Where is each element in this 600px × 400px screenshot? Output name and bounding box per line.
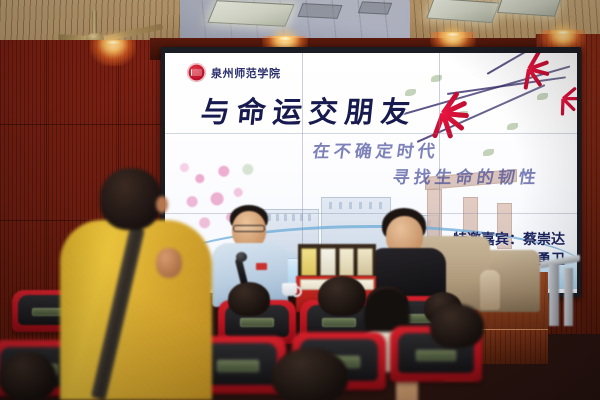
ceiling-air-vent xyxy=(358,1,392,14)
photo-scene: 泉州师范学院 与命运交朋友 在不确定时代 寻找生命的韧性 特邀嘉宾：蔡崇达 主持… xyxy=(0,0,600,400)
university-seal-icon xyxy=(187,63,206,82)
audience-head xyxy=(430,304,484,348)
water-cup xyxy=(282,283,297,296)
standing-person-hand xyxy=(156,248,182,278)
presentation-title: 与命运交朋友 xyxy=(199,89,419,131)
ceiling-light-panel xyxy=(207,0,294,27)
lectern xyxy=(540,258,580,336)
person-in-gold-jacket xyxy=(60,168,212,400)
host-eyeglasses xyxy=(233,225,265,232)
standing-person-ear xyxy=(156,196,168,213)
book-cover xyxy=(301,248,317,276)
ceiling-air-vent xyxy=(297,3,342,19)
book-cover xyxy=(339,248,355,276)
presentation-subtitle-line2: 寻找生命的韧性 xyxy=(391,163,542,188)
audience-head xyxy=(228,282,270,316)
book-cover xyxy=(320,248,336,276)
standing-person-head xyxy=(100,168,162,230)
presentation-subtitle-line1: 在不确定时代 xyxy=(311,137,441,162)
host-shirt-logo xyxy=(256,263,267,270)
audience-head xyxy=(272,348,348,400)
organization-name: 泉州师范学院 xyxy=(211,65,281,81)
book-display-stand xyxy=(298,244,376,278)
organization-logo: 泉州师范学院 xyxy=(187,63,281,82)
microphone-head xyxy=(236,252,247,262)
audience-head xyxy=(0,352,56,400)
book-cover xyxy=(357,248,373,276)
